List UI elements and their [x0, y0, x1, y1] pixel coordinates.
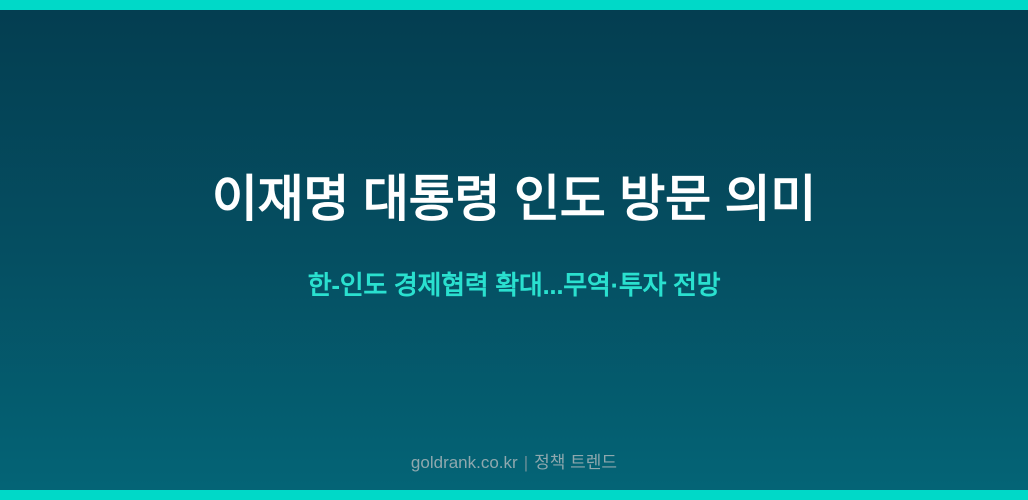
page-subtitle: 한-인도 경제협력 확대...무역·투자 전망 [268, 269, 761, 303]
card-content: 이재명 대통령 인도 방문 의미 한-인도 경제협력 확대...무역·투자 전망 [0, 10, 1028, 490]
bottom-accent-bar [0, 490, 1028, 500]
promo-card: 이재명 대통령 인도 방문 의미 한-인도 경제협력 확대...무역·투자 전망… [0, 0, 1028, 500]
page-title: 이재명 대통령 인도 방문 의미 [172, 170, 856, 229]
footer: goldrank.co.kr|정책 트렌드 [0, 454, 1028, 471]
footer-site-name: goldrank.co.kr [411, 453, 518, 472]
top-accent-bar [0, 0, 1028, 10]
footer-separator: | [518, 453, 534, 472]
footer-section-label: 정책 트렌드 [534, 453, 617, 472]
